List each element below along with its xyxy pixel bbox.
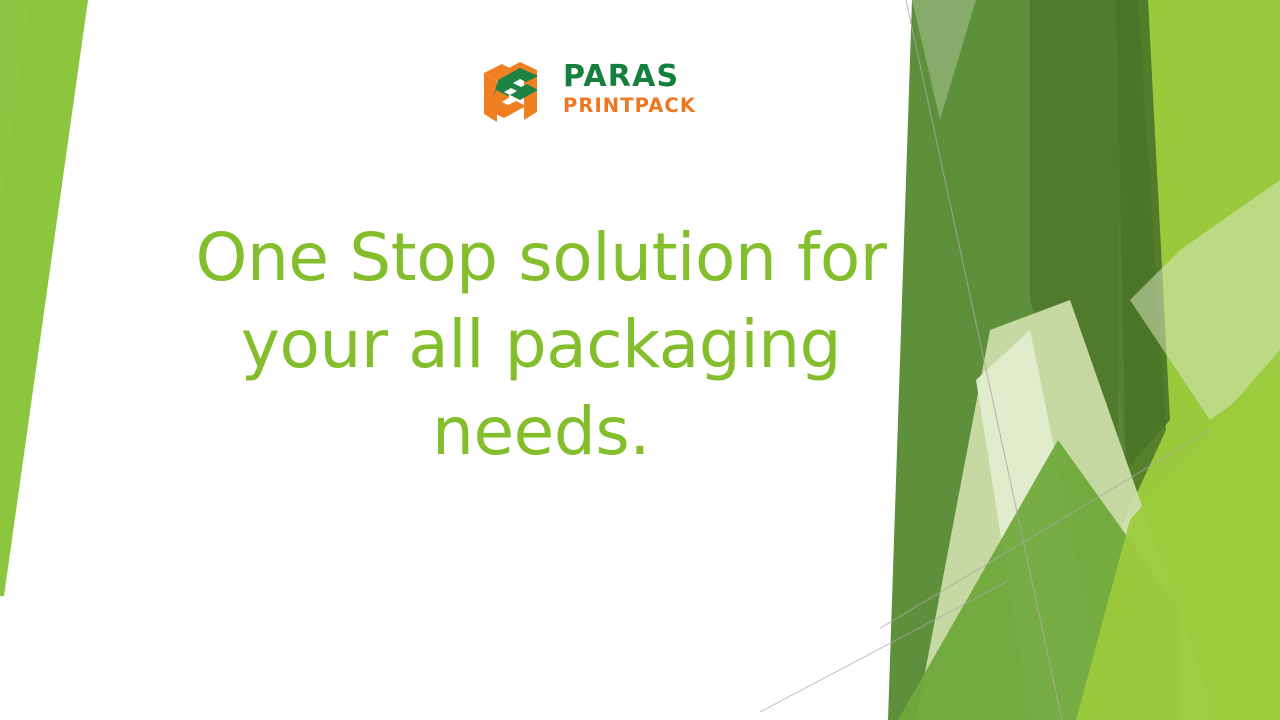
logo-primary-text: PARAS (563, 62, 696, 92)
hairline-diagonal-extension (760, 580, 1010, 720)
company-logo: PARAS PRINTPACK (0, 56, 1280, 122)
facet-shape-lightest-sliver (976, 330, 1110, 720)
title-placeholder: One Stop solution for your all packaging… (118, 214, 964, 475)
presentation-slide: PARAS PRINTPACK One Stop solution for yo… (0, 0, 1280, 720)
slide-title: One Stop solution for your all packaging… (118, 214, 964, 475)
facet-shape-mid-bottom (898, 440, 1180, 720)
facet-shape-pale-right-diagonal (1130, 180, 1280, 420)
paras-printpack-cube-mark-icon (480, 56, 554, 122)
logo-secondary-text: PRINTPACK (563, 96, 696, 116)
facet-shape-lime-lower (1076, 350, 1280, 720)
